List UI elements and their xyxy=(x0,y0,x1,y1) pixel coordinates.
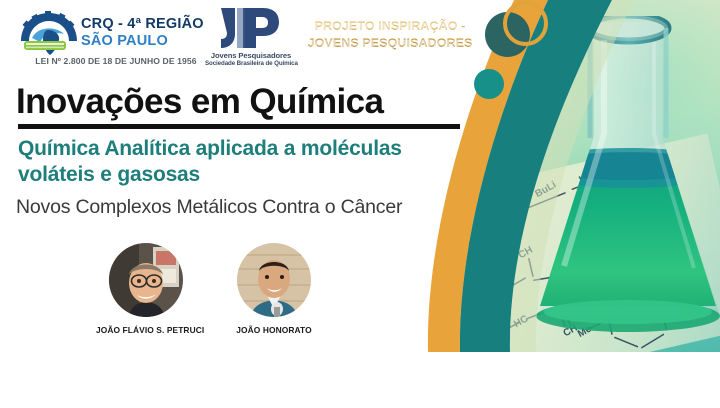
speaker-card: JOÃO HONORATO xyxy=(228,243,320,335)
page-title: Inovações em Química xyxy=(16,82,383,122)
speaker-name: JOÃO FLÁVIO S. PETRUCI xyxy=(96,325,192,335)
gold-ring-outline xyxy=(503,1,548,46)
speaker-name: JOÃO HONORATO xyxy=(228,325,320,335)
jp-line1: Jovens Pesquisadores xyxy=(205,51,297,60)
poster-subtitle: Química Analítica aplicada a moléculas v… xyxy=(18,136,410,188)
jp-logo: Jovens Pesquisadores Sociedade Brasileir… xyxy=(205,6,297,72)
crq-logo: CRQ - 4ª REGIÃO SÃO PAULO LEI Nº 2.800 D… xyxy=(18,10,214,72)
speaker-portrait-photo xyxy=(109,243,183,317)
project-banner-line2: JOVENS PESQUISADORES xyxy=(300,35,480,52)
artwork-panel: CH CH BuLi H Br H C HC CH OLi CH H C HC … xyxy=(398,0,720,352)
project-banner: PROJETO INSPIRAÇÃO - JOVENS PESQUISADORE… xyxy=(300,18,480,52)
speakers-list: JOÃO FLÁVIO S. PETRUCI xyxy=(100,243,346,353)
crq-line2: SÃO PAULO xyxy=(81,33,168,49)
title-underline xyxy=(18,124,460,129)
jp-line2: Sociedade Brasileira de Química xyxy=(205,60,297,67)
project-banner-line1: PROJETO INSPIRAÇÃO - xyxy=(300,18,480,35)
poster-topic: Novos Complexos Metálicos Contra o Cânce… xyxy=(16,194,416,220)
speaker-portrait-photo xyxy=(237,243,311,317)
crq-law-text: LEI Nº 2.800 DE 18 DE JUNHO DE 1956 xyxy=(18,56,214,66)
crq-line1: CRQ - 4ª REGIÃO xyxy=(81,16,204,32)
speaker-card: JOÃO FLÁVIO S. PETRUCI xyxy=(100,243,192,335)
teal-gold-curved-band xyxy=(398,0,720,352)
jp-monogram-icon xyxy=(217,6,283,50)
poster-canvas: CH CH BuLi H Br H C HC CH OLi CH H C HC … xyxy=(0,0,720,408)
crq-gear-brazil-book-icon xyxy=(18,10,80,60)
teal-filled-circle-small xyxy=(474,69,504,99)
